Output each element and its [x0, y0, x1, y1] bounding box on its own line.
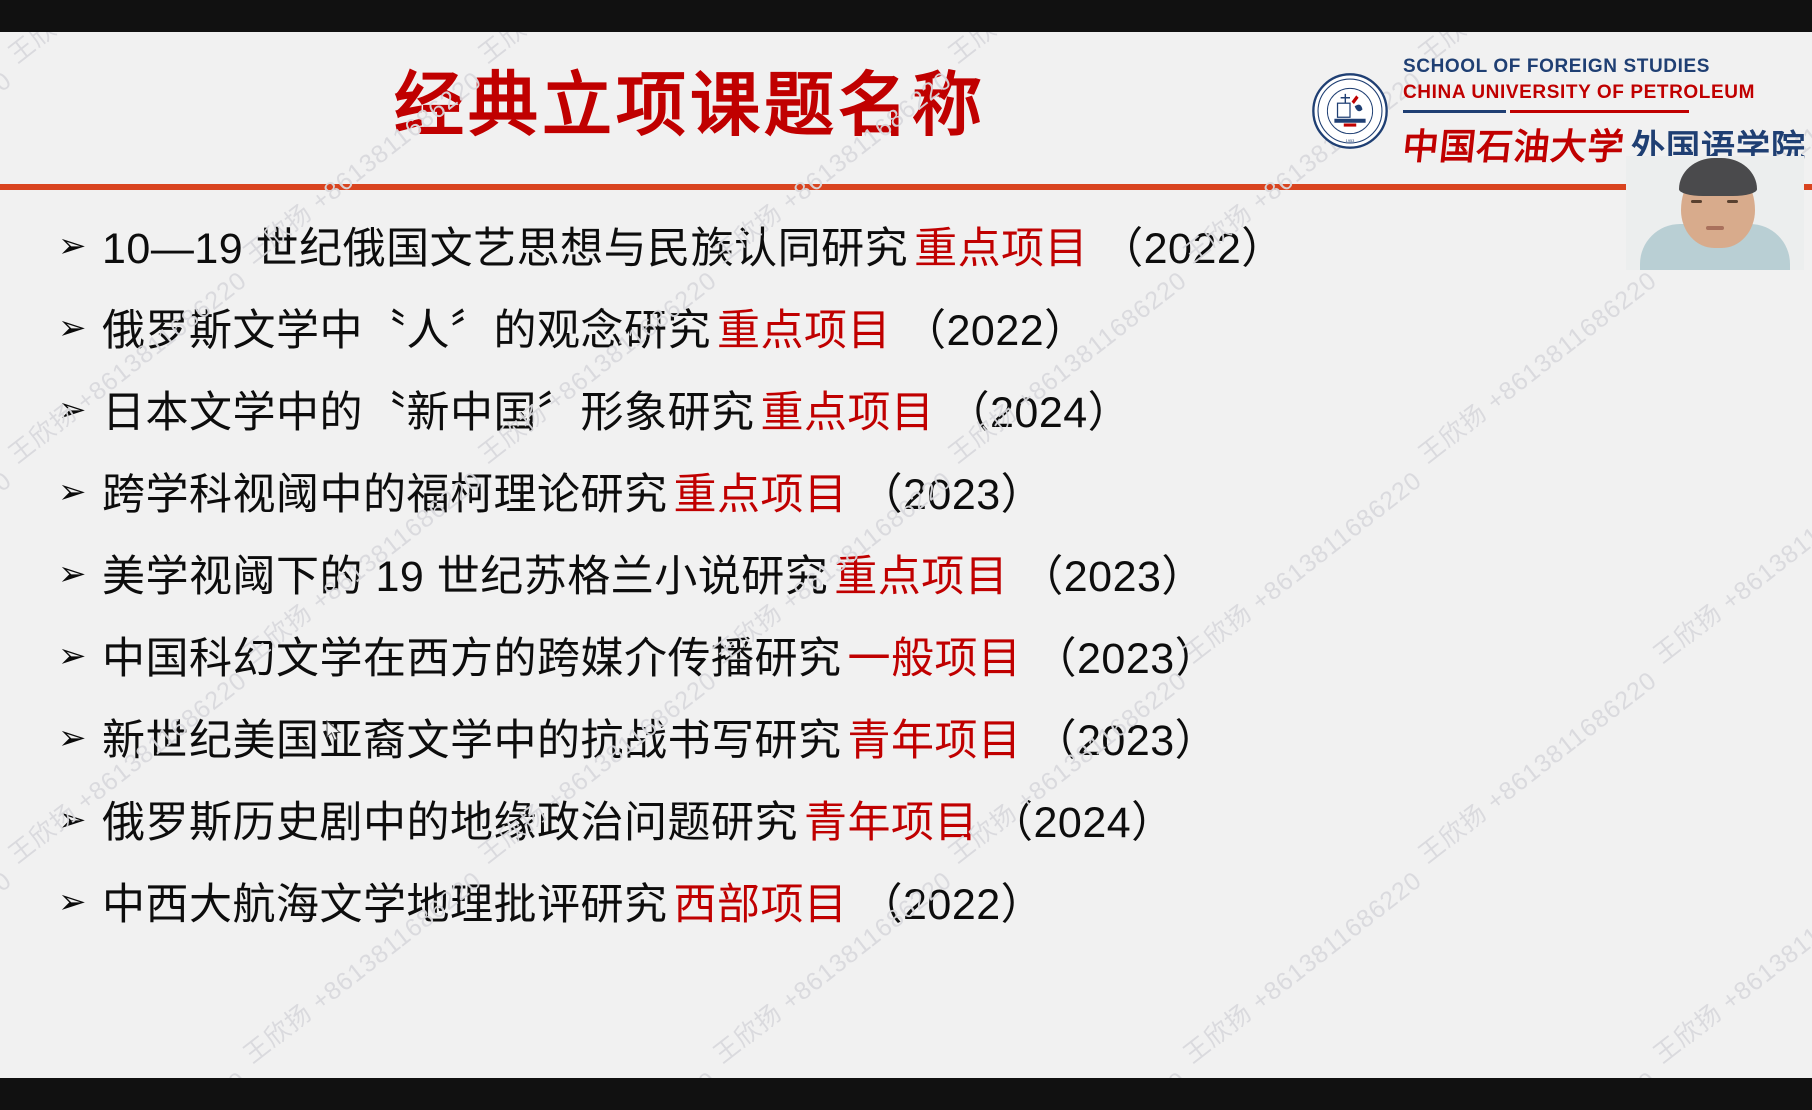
logo-chinese-primary: 中国石油大学: [1400, 118, 1627, 170]
bullet-topic: 新世纪美国亚裔文学中的抗战书写研究: [102, 717, 842, 765]
bullet-text: 日本文学中的〝新中国〞形象研究重点项目（2024）: [102, 392, 1131, 435]
bullet-arrow-icon: ➢: [58, 393, 102, 427]
svg-text:1953: 1953: [1346, 138, 1355, 143]
watermark-text: 王欣扬 +8613811686220: [1410, 1061, 1663, 1078]
mouse-pointer-icon: [326, 720, 342, 742]
bullet-item: ➢新世纪美国亚裔文学中的抗战书写研究青年项目（2023）: [0, 720, 1812, 802]
bullet-topic: 美学视阈下的 19 世纪苏格兰小说研究: [102, 553, 828, 601]
bullet-year: （2024）: [990, 799, 1175, 847]
bullet-project-type-label: 重点项目: [914, 225, 1088, 273]
logo-text-block: SCHOOL OF FOREIGN STUDIES CHINA UNIVERSI…: [1403, 54, 1806, 170]
bullet-topic: 俄罗斯历史剧中的地缘政治问题研究: [102, 799, 798, 847]
bullet-text: 美学视阈下的 19 世纪苏格兰小说研究重点项目（2023）: [102, 556, 1205, 599]
bullet-list: ➢10—19 世纪俄国文艺思想与民族认同研究重点项目（2022）➢俄罗斯文学中〝…: [0, 228, 1812, 966]
bullet-topic: 日本文学中的〝新中国〞形象研究: [102, 389, 755, 437]
bullet-year: （2024）: [947, 389, 1132, 437]
page-title: 经典立项课题名称: [0, 70, 1380, 140]
bullet-arrow-icon: ➢: [58, 557, 102, 591]
bullet-topic: 跨学科视阈中的福柯理论研究: [102, 471, 668, 519]
bullet-item: ➢美学视阈下的 19 世纪苏格兰小说研究重点项目（2023）: [0, 556, 1812, 638]
bullet-text: 俄罗斯文学中〝人〞的观念研究重点项目（2022）: [102, 310, 1088, 353]
logo-english-line-1: SCHOOL OF FOREIGN STUDIES: [1403, 54, 1806, 80]
slide-canvas: 王欣扬 +8613811686220王欣扬 +8613811686220王欣扬 …: [0, 32, 1812, 1078]
watermark-text: 王欣扬 +8613811686220: [470, 1061, 723, 1078]
logo-rule-red: [1510, 110, 1689, 113]
bullet-project-type-label: 青年项目: [848, 717, 1022, 765]
logo-rule-blue: [1403, 110, 1506, 113]
bullet-year: （2022）: [903, 307, 1088, 355]
bullet-year: （2023）: [1034, 635, 1219, 683]
bullet-text: 中西大航海文学地理批评研究西部项目（2022）: [102, 884, 1044, 927]
bullet-text: 俄罗斯历史剧中的地缘政治问题研究青年项目（2024）: [102, 802, 1175, 845]
watermark-text: 王欣扬 +8613811686220: [940, 1061, 1193, 1078]
bullet-arrow-icon: ➢: [58, 885, 102, 919]
bullet-item: ➢俄罗斯文学中〝人〞的观念研究重点项目（2022）: [0, 310, 1812, 392]
presentation-screen: 王欣扬 +8613811686220王欣扬 +8613811686220王欣扬 …: [0, 0, 1812, 1110]
bullet-arrow-icon: ➢: [58, 639, 102, 673]
bullet-topic: 中西大航海文学地理批评研究: [102, 881, 668, 929]
bullet-topic: 中国科幻文学在西方的跨媒介传播研究: [102, 635, 842, 683]
bullet-project-type-label: 青年项目: [804, 799, 978, 847]
bullet-arrow-icon: ➢: [58, 803, 102, 837]
bullet-item: ➢中国科幻文学在西方的跨媒介传播研究一般项目（2023）: [0, 638, 1812, 720]
bullet-text: 10—19 世纪俄国文艺思想与民族认同研究重点项目（2022）: [102, 228, 1285, 271]
bullet-arrow-icon: ➢: [58, 311, 102, 345]
bullet-arrow-icon: ➢: [58, 475, 102, 509]
bullet-year: （2022）: [1100, 225, 1285, 273]
bullet-year: （2023）: [1020, 553, 1205, 601]
bullet-text: 跨学科视阈中的福柯理论研究重点项目（2023）: [102, 474, 1044, 517]
presenter-eye-left: [1691, 200, 1702, 203]
university-seal-icon: 1953: [1311, 72, 1389, 150]
bullet-item: ➢俄罗斯历史剧中的地缘政治问题研究青年项目（2024）: [0, 802, 1812, 884]
bullet-year: （2022）: [860, 881, 1045, 929]
bullet-project-type-label: 重点项目: [834, 553, 1008, 601]
bullet-project-type-label: 重点项目: [674, 471, 848, 519]
bullet-text: 中国科幻文学在西方的跨媒介传播研究一般项目（2023）: [102, 638, 1218, 681]
bullet-arrow-icon: ➢: [58, 721, 102, 755]
bullet-item: ➢中西大航海文学地理批评研究西部项目（2022）: [0, 884, 1812, 966]
logo-english-line-2: CHINA UNIVERSITY OF PETROLEUM: [1403, 80, 1806, 106]
university-logo: 1953 SCHOOL OF FOREIGN STUDIES CHINA UNI…: [1311, 54, 1806, 170]
presenter-video-overlay[interactable]: [1626, 156, 1804, 270]
presenter-mouth: [1706, 226, 1724, 230]
watermark-text: 王欣扬 +8613811686220: [0, 1061, 253, 1078]
bullet-text: 新世纪美国亚裔文学中的抗战书写研究青年项目（2023）: [102, 720, 1218, 763]
bullet-project-type-label: 重点项目: [761, 389, 935, 437]
bullet-topic: 10—19 世纪俄国文艺思想与民族认同研究: [102, 225, 908, 273]
bullet-item: ➢10—19 世纪俄国文艺思想与民族认同研究重点项目（2022）: [0, 228, 1812, 310]
bullet-arrow-icon: ➢: [58, 229, 102, 263]
bullet-item: ➢日本文学中的〝新中国〞形象研究重点项目（2024）: [0, 392, 1812, 474]
presenter-eye-right: [1727, 200, 1738, 203]
bullet-project-type-label: 一般项目: [848, 635, 1022, 683]
title-divider-rule: [0, 184, 1812, 190]
logo-rule-group: [1403, 110, 1689, 114]
bullet-project-type-label: 重点项目: [717, 307, 891, 355]
bullet-topic: 俄罗斯文学中〝人〞的观念研究: [102, 307, 711, 355]
bullet-year: （2023）: [860, 471, 1045, 519]
bullet-project-type-label: 西部项目: [674, 881, 848, 929]
bullet-item: ➢跨学科视阈中的福柯理论研究重点项目（2023）: [0, 474, 1812, 556]
bullet-year: （2023）: [1034, 717, 1219, 765]
